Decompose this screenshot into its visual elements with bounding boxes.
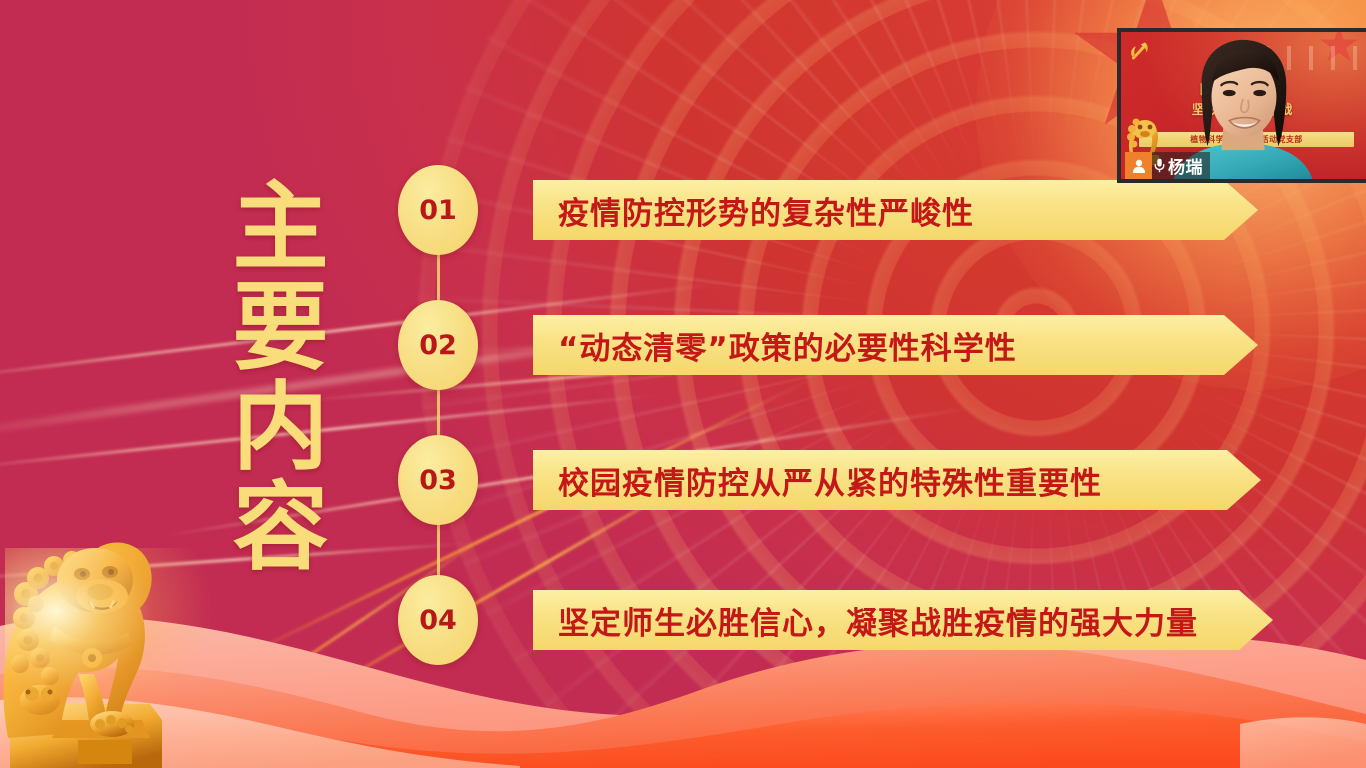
content-item[interactable]: 校园疫情防控从严从紧的特殊性重要性 03: [0, 435, 1366, 527]
content-bar[interactable]: 疫情防控形势的复杂性严峻性: [533, 180, 1258, 240]
item-number: 03: [419, 465, 457, 496]
participant-name-badge: 杨瑞: [1125, 152, 1210, 179]
participant-name-text: 杨瑞: [1168, 153, 1203, 178]
content-label: 疫情防控形势的复杂性严峻性: [533, 188, 974, 233]
timeline-connector: [437, 215, 440, 625]
presentation-slide: 主要内容 疫情防控形势的复杂性严峻性 01 “动态清零”政策的必要性科学性 02…: [0, 0, 1366, 768]
item-number-badge[interactable]: 03: [398, 435, 478, 525]
item-number-badge[interactable]: 04: [398, 575, 478, 665]
content-bar[interactable]: 坚定师生必胜信心，凝聚战胜疫情的强大力量: [533, 590, 1273, 650]
item-number-badge[interactable]: 01: [398, 165, 478, 255]
content-item[interactable]: “动态清零”政策的必要性科学性 02: [0, 300, 1366, 392]
content-label: 坚定师生必胜信心，凝聚战胜疫情的强大力量: [533, 598, 1198, 643]
content-item[interactable]: 坚定师生必胜信心，凝聚战胜疫情的强大力量 04: [0, 575, 1366, 667]
content-bar[interactable]: 校园疫情防控从严从紧的特殊性重要性: [533, 450, 1261, 510]
microphone-icon: [1154, 158, 1165, 173]
participant-name: 杨瑞: [1152, 152, 1210, 179]
content-label: 校园疫情防控从严从紧的特殊性重要性: [533, 458, 1102, 503]
item-number-badge[interactable]: 02: [398, 300, 478, 390]
video-participant-panel[interactable]: 同心 疫有我 坚决打 阻击战 植物科学 主题党日活动党支部: [1117, 28, 1366, 183]
item-number: 01: [419, 195, 457, 226]
item-number: 02: [419, 330, 457, 361]
content-bar[interactable]: “动态清零”政策的必要性科学性: [533, 315, 1258, 375]
content-label: “动态清零”政策的必要性科学性: [533, 323, 1017, 368]
item-number: 04: [419, 605, 457, 636]
person-avatar-icon: [1125, 152, 1152, 179]
